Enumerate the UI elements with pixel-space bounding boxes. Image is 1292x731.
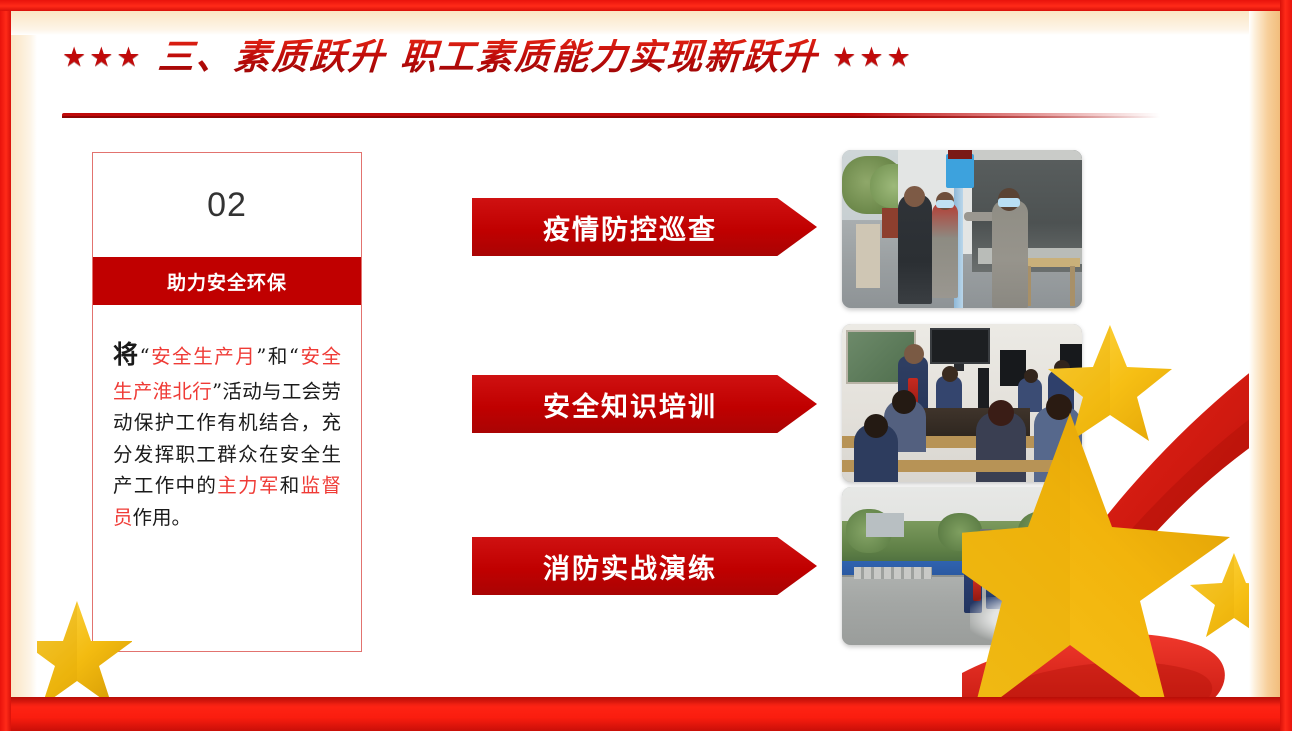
- card-body-segment: 将: [113, 340, 140, 369]
- arrow-banner-2[interactable]: 安全知识培训: [472, 375, 817, 433]
- card-body-segment: 和: [280, 474, 301, 497]
- arrow-banner-1[interactable]: 疫情防控巡查: [472, 198, 817, 256]
- frame-edge-right: [1280, 0, 1292, 731]
- info-card: 02 助力安全环保 将“安全生产月”和“安全生产淮北行”活动与工会劳动保护工作有…: [92, 152, 362, 652]
- frame-edge-top: [0, 0, 1292, 11]
- page-title: 三、素质跃升 职工素质能力实现新跃升: [156, 39, 819, 75]
- title-underline: [62, 113, 1160, 118]
- photo-epidemic-inspection: 疫情防控巡查现场照片: [842, 150, 1082, 308]
- card-body-segment: 安全生产月: [150, 345, 257, 368]
- photo-safety-training: 安全知识培训课堂照片: [842, 324, 1082, 482]
- card-body-segment: “: [140, 345, 150, 368]
- arrow-banner-2-label: 安全知识培训: [480, 385, 780, 424]
- frame-band-top: [11, 11, 1280, 35]
- arrow-banner-3[interactable]: 消防实战演练: [472, 537, 817, 595]
- stars-right-icon: ★★★: [832, 44, 914, 71]
- frame-edge-left: [0, 0, 11, 731]
- title-row: ★★★ 三、素质跃升 职工素质能力实现新跃升 ★★★: [62, 26, 1062, 88]
- arrow-banner-1-label: 疫情防控巡查: [480, 208, 780, 247]
- card-band-label: 助力安全环保: [93, 257, 361, 305]
- photo-fire-drill: 消防实战演练照片: [842, 487, 1082, 645]
- card-body-text: 将“安全生产月”和“安全生产淮北行”活动与工会劳动保护工作有机结合，充分发挥职工…: [93, 305, 361, 533]
- frame-band-right: [1249, 11, 1280, 711]
- arrow-banner-3-label: 消防实战演练: [480, 547, 780, 586]
- slide-header: ★★★ 三、素质跃升 职工素质能力实现新跃升 ★★★: [0, 26, 1292, 104]
- frame-band-left: [11, 11, 37, 711]
- card-body-segment: ”和“: [256, 345, 299, 368]
- slide-canvas: ★★★ 三、素质跃升 职工素质能力实现新跃升 ★★★ 02 助力安全环保 将“安…: [0, 0, 1292, 731]
- stars-left-icon: ★★★: [62, 44, 144, 71]
- card-body-segment: 作用。: [133, 506, 192, 529]
- card-number: 02: [93, 153, 361, 257]
- card-body-segment: 主力军: [217, 474, 280, 497]
- bottom-red-ribbon: [0, 697, 1292, 731]
